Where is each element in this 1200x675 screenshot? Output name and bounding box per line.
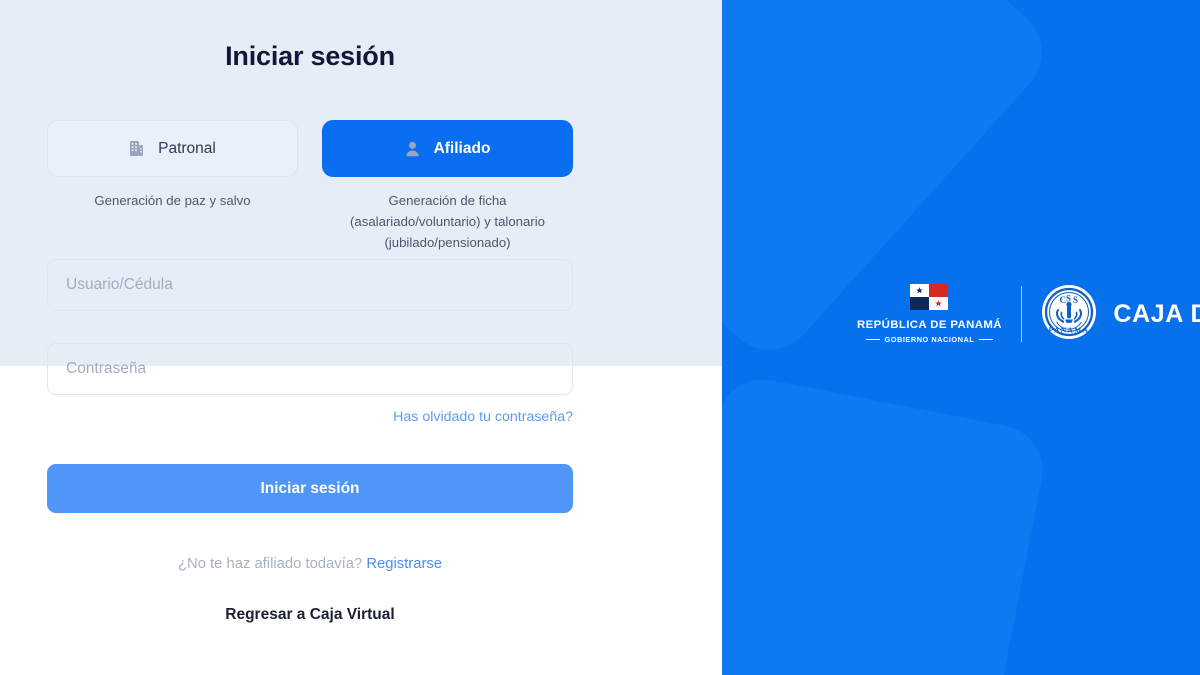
tab-afiliado-caption: Generación de ficha (asalariado/voluntar… [322,190,573,253]
svg-text:S: S [1066,293,1071,303]
back-to-caja-virtual-link[interactable]: Regresar a Caja Virtual [47,606,573,624]
brand-divider [1021,286,1023,342]
tab-patronal[interactable]: Patronal [47,120,298,177]
brand-lockup: REPÚBLICA DE PANAMÁ GOBIERNO NACIONAL C … [857,281,1200,347]
rule-right-icon [979,339,993,340]
government-logo: REPÚBLICA DE PANAMÁ GOBIERNO NACIONAL [857,284,1002,344]
login-submit-button[interactable]: Iniciar sesión [47,464,573,513]
tab-afiliado[interactable]: Afiliado [322,120,573,177]
account-type-tabs: Patronal Afiliado [47,120,573,177]
username-input[interactable] [47,259,573,311]
government-name: REPÚBLICA DE PANAMÁ [857,319,1002,331]
government-subtitle-row: GOBIERNO NACIONAL [866,335,994,344]
register-link[interactable]: Registrarse [366,556,442,572]
register-prompt-text: ¿No te haz afiliado todavía? [178,556,362,572]
password-input[interactable] [47,343,573,395]
brand-panel: REPÚBLICA DE PANAMÁ GOBIERNO NACIONAL C … [722,0,1200,675]
login-screen: Iniciar sesión [0,0,1200,675]
tab-afiliado-label: Afiliado [434,140,491,158]
panama-flag-icon [910,284,948,315]
tab-patronal-label: Patronal [158,140,216,158]
login-pane: Iniciar sesión [0,0,722,675]
user-icon [405,141,420,157]
svg-text:S: S [1073,295,1078,305]
page-title: Iniciar sesión [47,41,573,72]
register-prompt-row: ¿No te haz afiliado todavía? Registrarse [47,556,573,572]
css-wordmark: CAJA DE S [1113,300,1200,329]
rule-left-icon [866,339,880,340]
login-form: Iniciar sesión [47,0,573,675]
forgot-password-link[interactable]: Has olvidado tu contraseña? [47,409,573,425]
tab-captions: Generación de paz y salvo Generación de … [47,190,573,253]
building-icon [129,140,144,157]
government-subtitle: GOBIERNO NACIONAL [885,335,975,344]
svg-text:PANAMA: PANAMA [1049,325,1090,334]
decorative-shape-bottom [722,372,1050,675]
tab-patronal-caption: Generación de paz y salvo [47,190,298,253]
css-seal-icon: C S S PANAMA [1041,284,1097,345]
